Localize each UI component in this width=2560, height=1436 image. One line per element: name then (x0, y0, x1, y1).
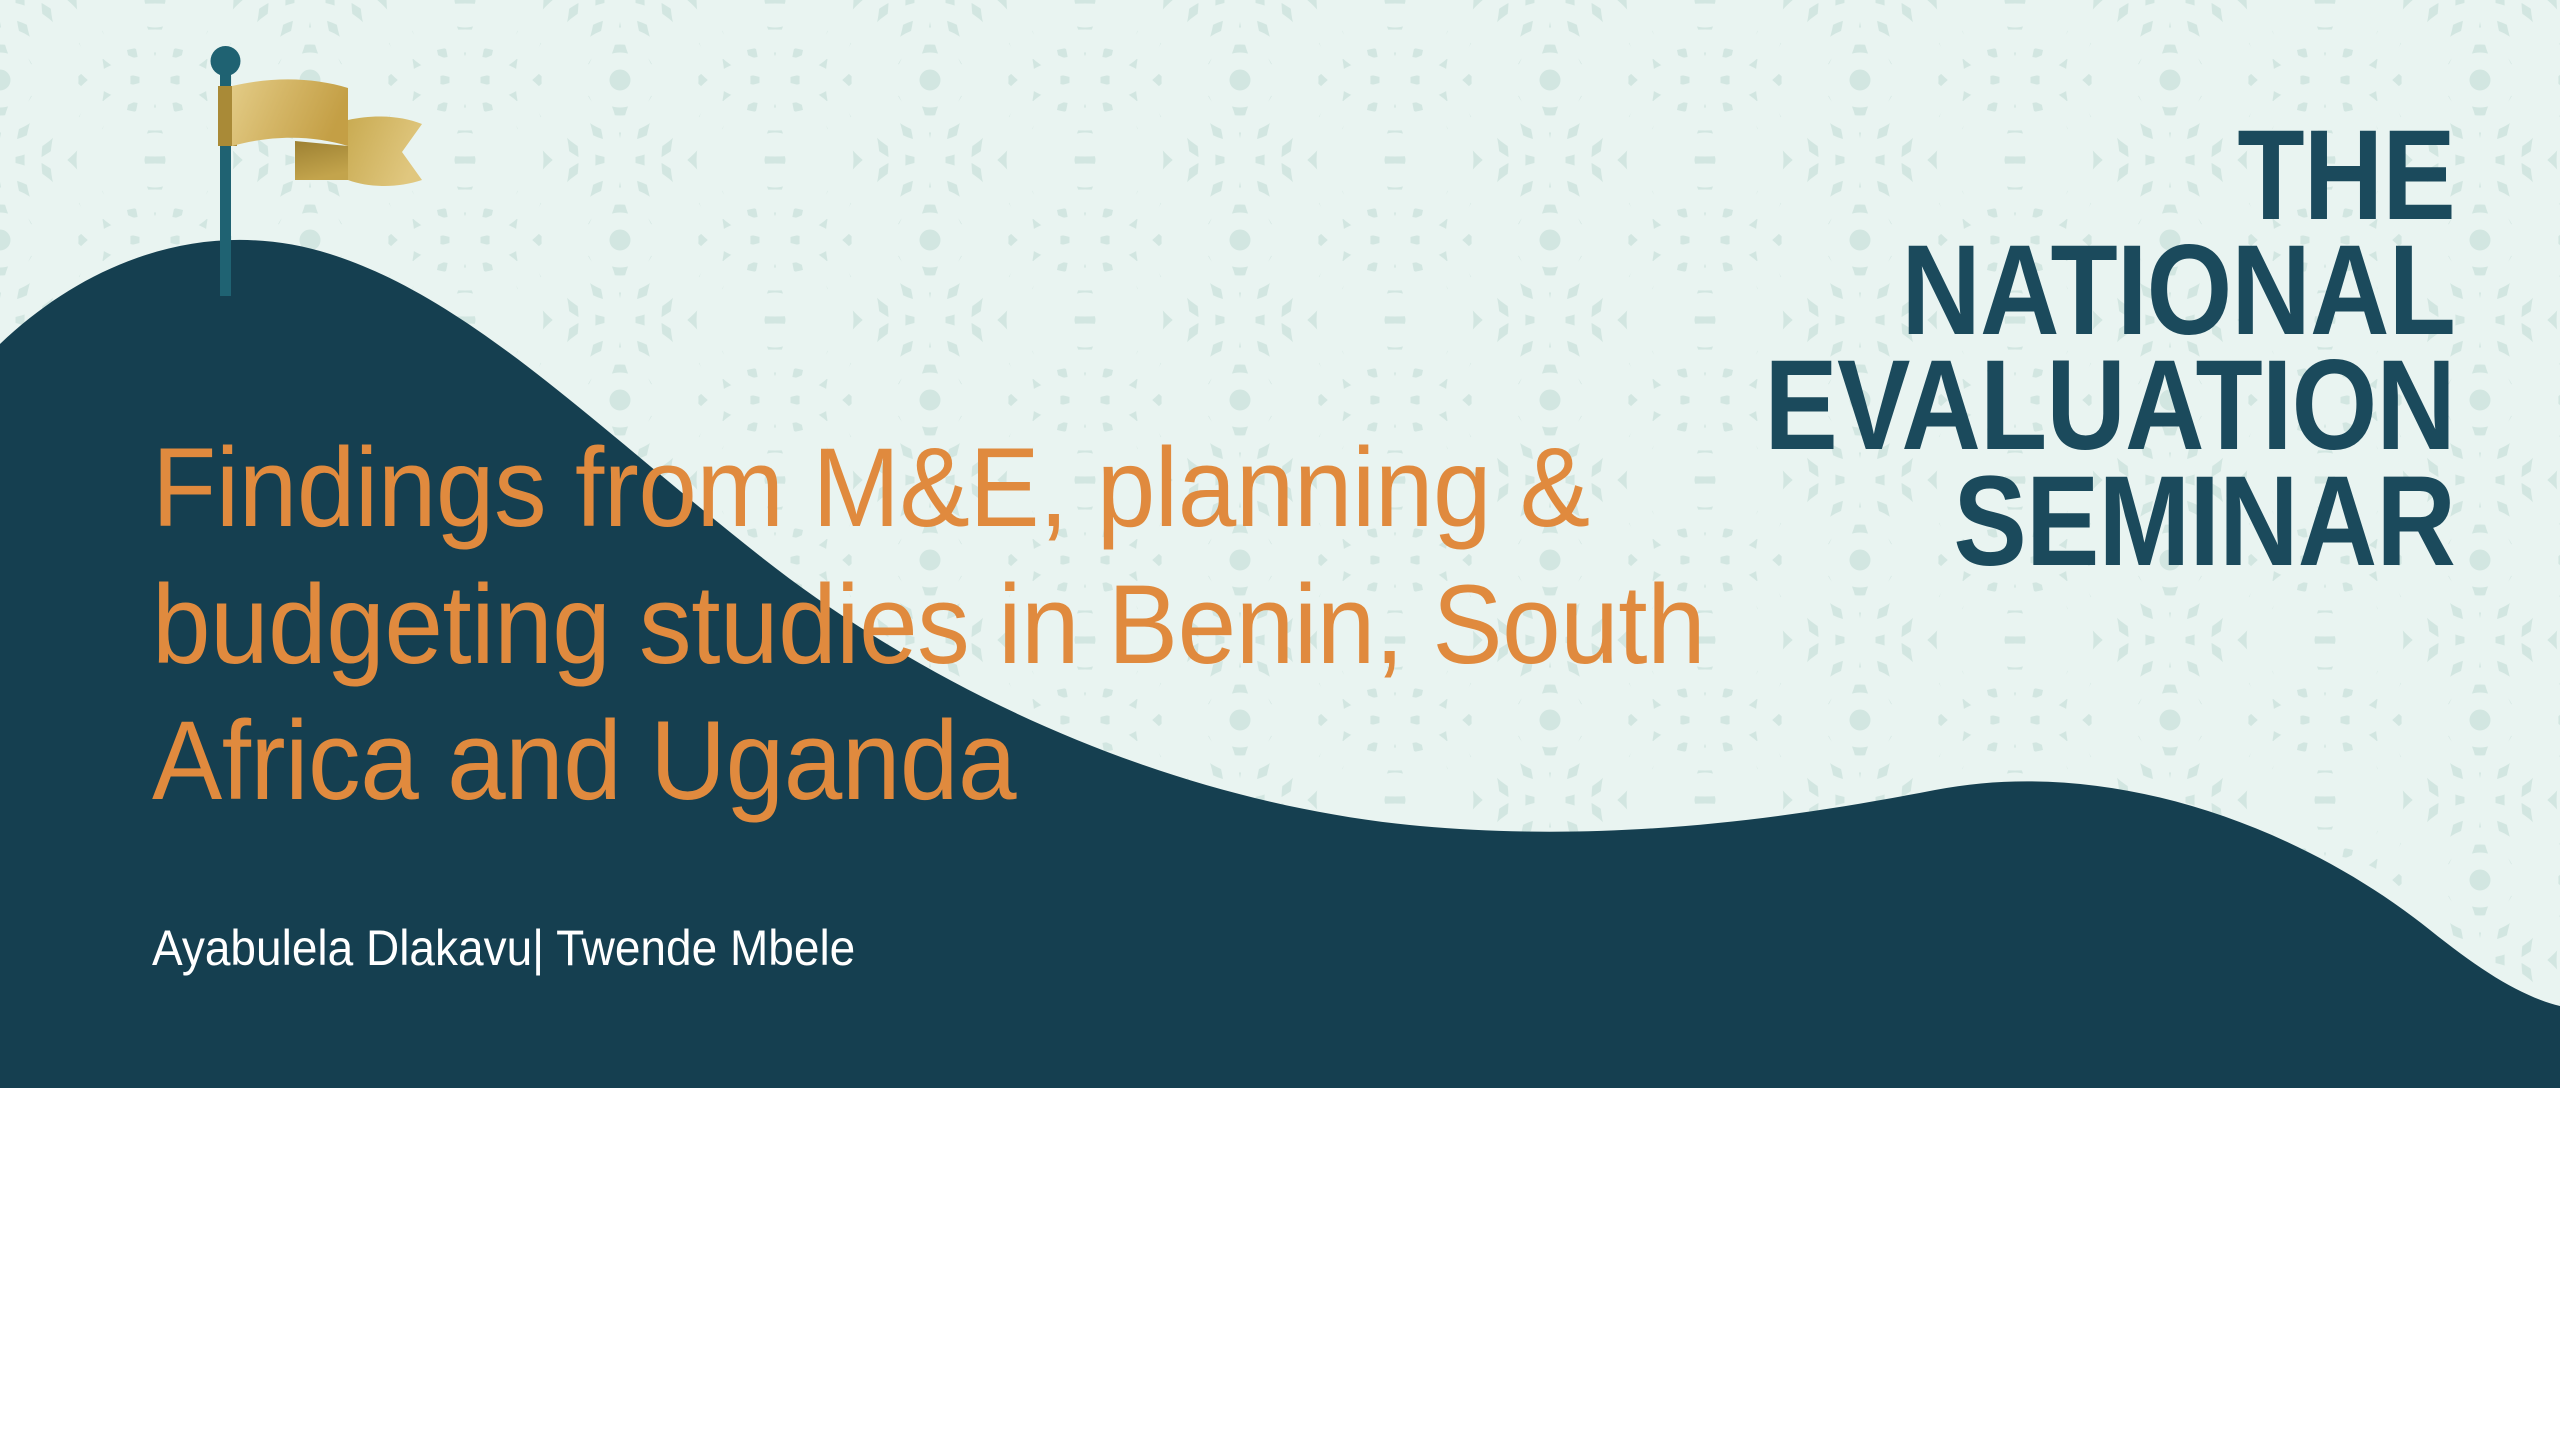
wordmark-line-national: NATIONAL (1764, 233, 2455, 348)
slide-upper-stage: THE NATIONAL EVALUATION SEMINAR Findings… (0, 0, 2560, 1088)
presentation-slide: THE NATIONAL EVALUATION SEMINAR Findings… (0, 0, 2560, 1436)
slide-title: Findings from M&E, planning & budgeting … (152, 420, 1910, 830)
slide-footer-logos: !KE E: /XARRA //KE planning, monitoring … (0, 1088, 2560, 1436)
flag-on-hill-icon (170, 28, 440, 298)
slide-subtitle-presenter: Ayabulela Dlakavu| Twende Mbele (152, 918, 855, 978)
wordmark-line-the: THE (1764, 118, 2455, 233)
